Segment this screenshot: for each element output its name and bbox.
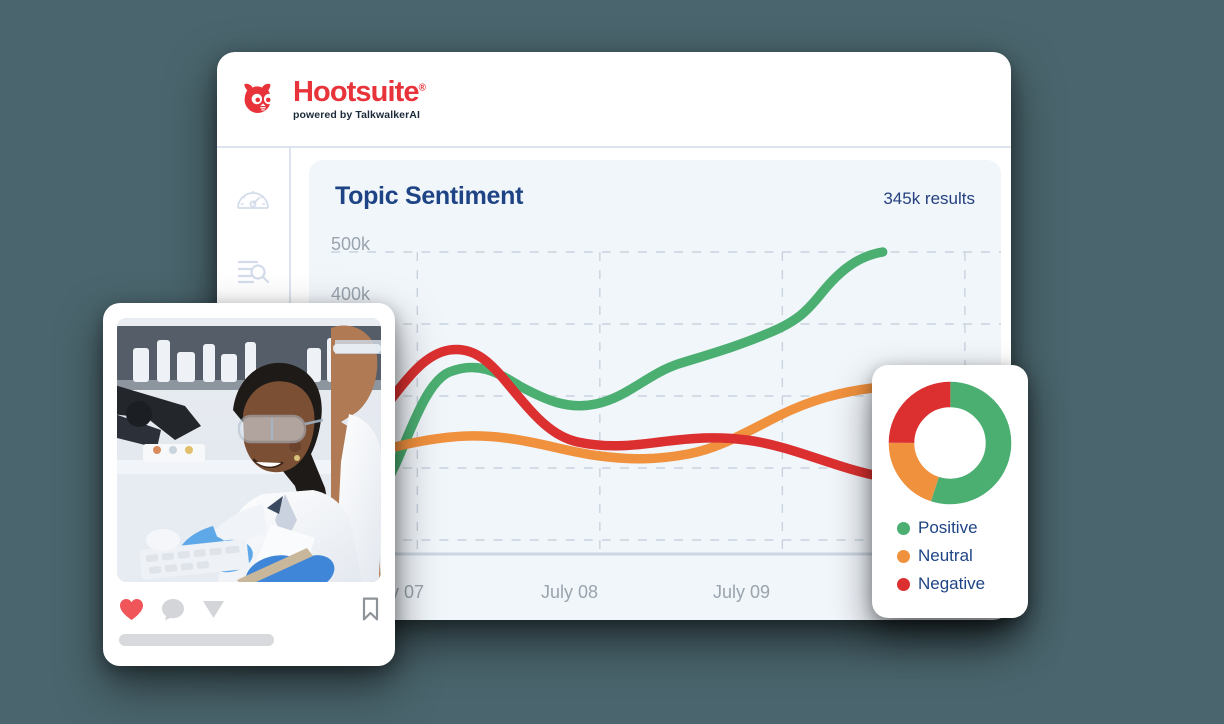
y-tick-label: 500k: [331, 234, 370, 255]
heart-icon[interactable]: [119, 598, 144, 621]
page-title: Topic Sentiment: [335, 182, 523, 211]
social-post-card: [103, 303, 395, 666]
gauge-icon: [236, 182, 270, 212]
legend-item-negative[interactable]: Negative: [897, 574, 1028, 594]
brand-name: Hootsuite: [293, 76, 419, 108]
sentiment-donut-chart: [886, 379, 1014, 507]
legend-item-neutral[interactable]: Neutral: [897, 546, 1028, 566]
app-header: Hootsuite® powered by TalkwalkerAI: [217, 52, 1011, 148]
sentiment-legend: Positive Neutral Negative: [872, 518, 1028, 594]
owl-icon: [242, 82, 284, 116]
hootsuite-logo[interactable]: Hootsuite® powered by TalkwalkerAI: [242, 78, 425, 121]
lab-scene-illustration: [117, 318, 381, 582]
caption-placeholder: [119, 634, 274, 646]
post-action-bar: [117, 597, 381, 621]
legend-item-positive[interactable]: Positive: [897, 518, 1028, 538]
legend-dot-positive: [897, 522, 910, 535]
legend-label-positive: Positive: [918, 518, 978, 538]
brand-wordmark: Hootsuite®: [293, 78, 425, 107]
sidebar-item-search-results[interactable]: [234, 252, 272, 290]
post-image: [117, 318, 381, 582]
legend-dot-negative: [897, 578, 910, 591]
sidebar-item-dashboard[interactable]: [234, 178, 272, 216]
legend-dot-neutral: [897, 550, 910, 563]
comment-bubble-icon[interactable]: [161, 598, 185, 621]
share-triangle-icon[interactable]: [202, 599, 225, 620]
chart-header: Topic Sentiment 345k results: [335, 182, 975, 211]
brand-tagline: powered by TalkwalkerAI: [293, 110, 425, 121]
registered-mark: ®: [419, 82, 425, 93]
x-tick-label: July 08: [541, 582, 598, 603]
bookmark-icon[interactable]: [362, 597, 379, 621]
legend-label-neutral: Neutral: [918, 546, 973, 566]
results-count: 345k results: [883, 189, 975, 209]
legend-label-negative: Negative: [918, 574, 985, 594]
x-tick-label: July 09: [713, 582, 770, 603]
list-search-icon: [236, 256, 270, 286]
y-tick-label: 400k: [331, 284, 370, 305]
sentiment-donut-card: Positive Neutral Negative: [872, 365, 1028, 618]
